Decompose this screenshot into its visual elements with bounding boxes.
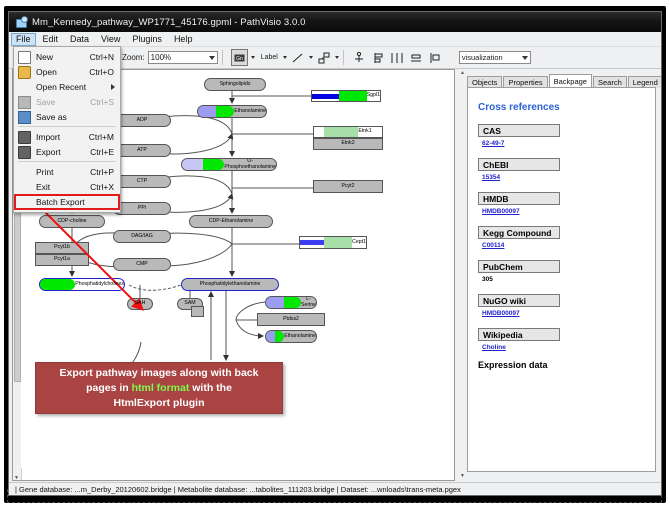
menu-edit[interactable]: Edit [38, 33, 64, 46]
node-phosphatidylethanolamine[interactable]: Phosphatidylethanolamine [181, 278, 279, 291]
menu-item-open-recent-label: Open Recent [36, 82, 86, 92]
pathvisio-window: Mm_Kennedy_pathway_WP1771_45176.gpml - P… [8, 11, 662, 496]
cross-references-heading: Cross references [478, 102, 655, 113]
gene-etnk2[interactable]: Etnk2 [313, 138, 383, 150]
menu-item-exit-accel: Ctrl+X [90, 182, 114, 192]
expression-data-heading: Expression data [478, 360, 655, 370]
menu-help[interactable]: Help [169, 33, 198, 46]
callout-line2-pre: pages in [86, 382, 132, 394]
pathvisio-icon [15, 16, 27, 28]
submenu-arrow-icon [111, 84, 115, 90]
new-document-icon [18, 51, 31, 64]
gene-etnk1[interactable]: Etnk1 [313, 126, 383, 138]
open-folder-icon [18, 66, 31, 79]
splitter-collapse-up-icon[interactable]: ▲ [460, 71, 465, 76]
node-cdp-choline[interactable]: CDP-choline [39, 215, 105, 228]
menu-item-save-as-label: Save as [36, 112, 67, 122]
gene-sgpl1[interactable]: Sgpl1 [311, 90, 381, 102]
xref-header-nugo-wiki: NuGO wiki [478, 294, 560, 307]
splitter-collapse-down-icon[interactable]: ▼ [460, 474, 465, 479]
xref-header-chebi: ChEBI [478, 158, 560, 171]
menu-item-import-label: Import [36, 132, 60, 142]
node-anchor-box[interactable] [191, 306, 204, 317]
line-dropdown-chevron-icon[interactable] [309, 56, 313, 59]
xref-header-hmdb: HMDB [478, 192, 560, 205]
order-icon[interactable] [428, 50, 443, 65]
xref-header-wikipedia: Wikipedia [478, 328, 560, 341]
menu-item-exit[interactable]: Exit Ctrl+X [14, 179, 120, 194]
callout-line2-post: with the [189, 382, 232, 394]
callout-line3: HtmlExport plugin [114, 397, 205, 409]
node-sphingolipids[interactable]: Sphingolipids [204, 78, 266, 91]
interaction-icon[interactable] [317, 50, 332, 65]
scroll-down-arrow-icon[interactable]: ▼ [14, 476, 19, 481]
import-icon [18, 131, 31, 144]
menu-item-print-accel: Ctrl+P [90, 167, 114, 177]
visualization-chevron-down-icon [522, 56, 528, 60]
backpage-panel: Cross references CAS 62-49-7 ChEBI 15354… [467, 87, 656, 472]
gene-cept1[interactable]: Cept1 [299, 236, 367, 249]
node-ethanolamine-2[interactable]: Ethanolamine [265, 330, 317, 343]
visualization-combobox[interactable]: visualization [459, 51, 531, 64]
node-cmp[interactable]: CMP [113, 258, 171, 271]
menu-plugins[interactable]: Plugins [127, 33, 167, 46]
toolbar-separator-2 [343, 50, 344, 65]
menu-item-save: Save Ctrl+S [14, 94, 120, 109]
menu-item-open-recent[interactable]: Open Recent [14, 79, 120, 94]
chevron-down-icon [209, 56, 215, 60]
annotation-callout: Export pathway images along with back pa… [35, 362, 283, 414]
zoom-label: Zoom: [122, 53, 145, 62]
xref-value-chebi[interactable]: 15354 [482, 174, 655, 181]
menu-item-import[interactable]: Import Ctrl+M [14, 129, 120, 144]
gene-dropdown-chevron-icon[interactable] [251, 56, 255, 59]
menu-item-open-accel: Ctrl+O [89, 67, 114, 77]
menu-item-export-accel: Ctrl+E [90, 147, 114, 157]
menu-item-open-label: Open [36, 67, 57, 77]
menu-item-new-label: New [36, 52, 53, 62]
menu-item-save-accel: Ctrl+S [90, 97, 114, 107]
menu-item-export[interactable]: Export Ctrl+E [14, 144, 120, 159]
menu-item-exit-label: Exit [36, 182, 50, 192]
menu-bar: File Edit Data View Plugins Help [9, 32, 661, 47]
toolbar-separator [222, 50, 223, 65]
zoom-combobox[interactable]: 100% [148, 51, 218, 64]
export-icon [18, 146, 31, 159]
panel-splitter[interactable]: ▲ ▼ [458, 69, 466, 481]
gene-pcyt1b[interactable]: Pcyt1b [35, 242, 89, 254]
node-ctp[interactable]: CTP [113, 175, 171, 188]
callout-line1: Export pathway images along with back [60, 367, 259, 379]
save-as-icon [18, 111, 31, 124]
menu-item-export-label: Export [36, 147, 61, 157]
side-panel-tabs: Objects Properties Backpage Search Legen… [467, 74, 660, 88]
label-dropdown-chevron-icon[interactable] [283, 56, 287, 59]
svg-text:Gn: Gn [236, 56, 243, 62]
menu-item-batch-export-label: Batch Export [36, 197, 85, 207]
menu-data[interactable]: Data [65, 33, 94, 46]
node-o-phosphoethanolamine[interactable]: O-Phosphoethanolamine [181, 158, 277, 171]
callout-highlight: html format [132, 382, 190, 394]
gene-pcyt2[interactable]: Pcyt2 [313, 180, 383, 193]
align-icon[interactable] [371, 50, 386, 65]
gene-pcyt1a[interactable]: Pcyt1a [35, 254, 89, 266]
menu-item-print[interactable]: Print Ctrl+P [14, 164, 120, 179]
menu-item-import-accel: Ctrl+M [89, 132, 114, 142]
xref-value-hmdb[interactable]: HMDB00097 [482, 208, 655, 215]
distribute-icon[interactable] [390, 50, 405, 65]
node-adp[interactable]: ADP [113, 114, 171, 127]
menu-file[interactable]: File [11, 33, 36, 46]
visualization-value: visualization [462, 53, 503, 62]
xref-header-pubchem: PubChem [478, 260, 560, 273]
menu-item-open[interactable]: Open Ctrl+O [14, 64, 120, 79]
menu-item-new-accel: Ctrl+N [90, 52, 114, 62]
menu-item-batch-export[interactable]: Batch Export [14, 194, 120, 210]
interaction-dropdown-chevron-icon[interactable] [335, 56, 339, 59]
zoom-value: 100% [151, 53, 171, 62]
anchor-icon[interactable] [352, 50, 367, 65]
menu-view[interactable]: View [96, 33, 125, 46]
screenshot-root: Mm_Kennedy_pathway_WP1771_45176.gpml - P… [0, 0, 670, 509]
file-menu-dropdown: New Ctrl+N Open Ctrl+O Open Recent Save … [13, 46, 121, 213]
node-ethanolamine[interactable]: Ethanolamine [197, 105, 267, 118]
node-dag-iag[interactable]: DAG/IAG [113, 230, 171, 243]
status-bar-text: | Gene database: ...m_Derby_20120602.bri… [15, 485, 461, 494]
xref-value-nugo-wiki[interactable]: HMDB00097 [482, 310, 655, 317]
menu-item-save-label: Save [36, 97, 55, 107]
menu-item-save-as[interactable]: Save as [14, 109, 120, 124]
xref-header-cas: CAS [478, 124, 560, 137]
window-title: Mm_Kennedy_pathway_WP1771_45176.gpml - P… [32, 17, 306, 28]
xref-header-kegg-compound: Kegg Compound [478, 226, 560, 239]
tab-backpage[interactable]: Backpage [549, 74, 592, 88]
stack-icon[interactable] [409, 50, 424, 65]
menu-item-new[interactable]: New Ctrl+N [14, 49, 120, 64]
xref-value-cas[interactable]: 62-49-7 [482, 140, 655, 147]
gene-ptdss2[interactable]: Ptdss2 [257, 313, 325, 326]
side-panel: Objects Properties Backpage Search Legen… [467, 69, 660, 481]
node-sah[interactable]: SAH [127, 298, 153, 310]
node-l-serine[interactable]: L-Serine [265, 296, 317, 309]
xref-value-wikipedia[interactable]: Choline [482, 344, 655, 351]
label-button[interactable]: Label [259, 50, 280, 65]
menu-divider-1 [18, 126, 116, 127]
xref-value-pubchem: 305 [482, 276, 655, 283]
node-atp[interactable]: ATP [113, 144, 171, 157]
gene-product-icon[interactable]: Gn [231, 49, 248, 66]
xref-value-kegg-compound[interactable]: C00114 [482, 242, 655, 249]
node-ppi[interactable]: PPi [113, 202, 171, 215]
save-icon [18, 96, 31, 109]
menu-divider-2 [18, 161, 116, 162]
node-cdp-ethanolamine[interactable]: CDP-Ethanolamine [189, 215, 273, 228]
title-bar: Mm_Kennedy_pathway_WP1771_45176.gpml - P… [9, 12, 661, 32]
line-icon[interactable] [291, 50, 306, 65]
node-phosphatidylcholines[interactable]: Phosphatidylcholines [39, 278, 125, 291]
status-bar: | Gene database: ...m_Derby_20120602.bri… [9, 482, 661, 495]
menu-item-print-label: Print [36, 167, 53, 177]
